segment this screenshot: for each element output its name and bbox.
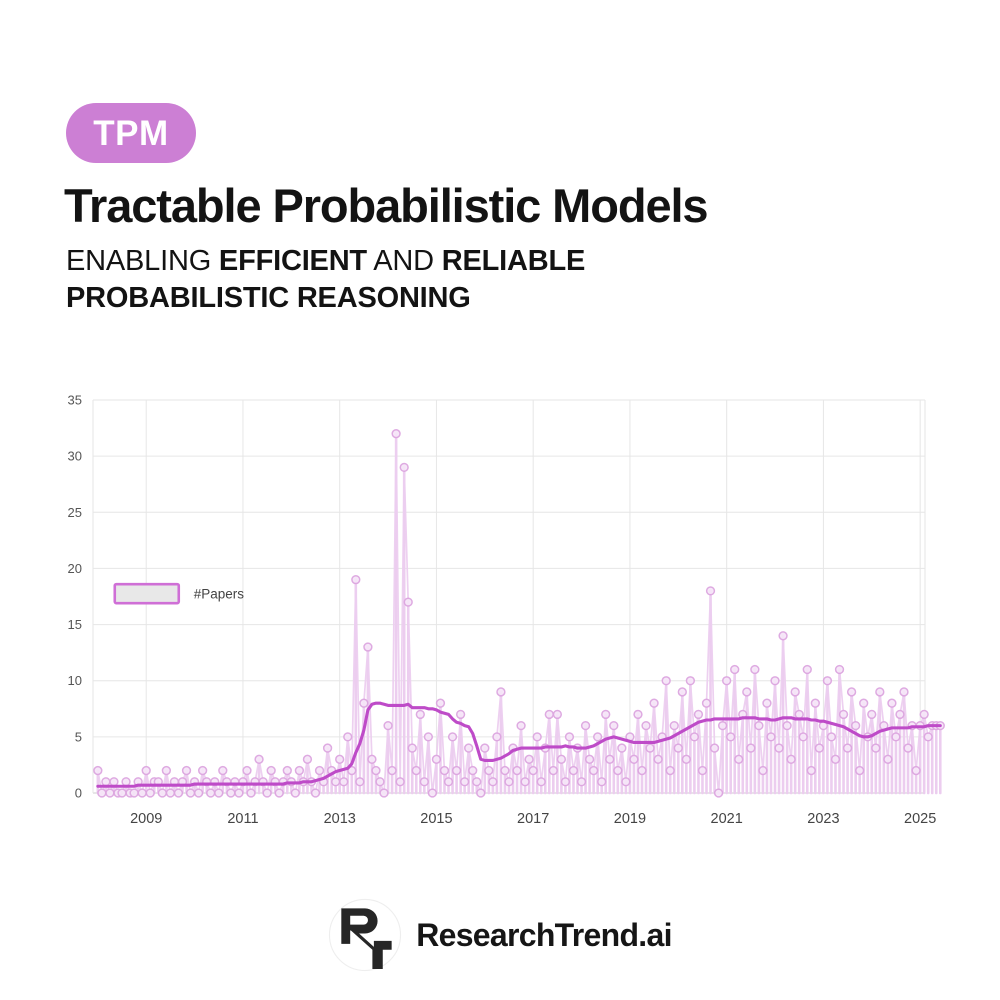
x-tick-label: 2015 xyxy=(420,811,452,827)
y-tick-label: 35 xyxy=(68,393,82,408)
papers-trend-chart: 05101520253035 2009201120132015201720192… xyxy=(0,370,1000,840)
subtitle-segment-1: ENABLING xyxy=(66,245,219,277)
x-tick-label: 2011 xyxy=(227,811,258,827)
subtitle-bold-reliable: RELIABLE xyxy=(442,245,585,277)
chart-stems xyxy=(98,434,940,793)
topic-badge: TPM xyxy=(66,103,196,163)
x-tick-label: 2017 xyxy=(517,811,549,827)
brand-name: ResearchTrend.ai xyxy=(416,917,672,954)
y-tick-label: 10 xyxy=(68,673,82,688)
x-tick-label: 2023 xyxy=(807,811,839,827)
footer-branding: ResearchTrend.ai xyxy=(0,885,1000,985)
topic-badge-label: TPM xyxy=(93,116,168,151)
rt-monogram-icon xyxy=(328,898,402,972)
y-tick-label: 0 xyxy=(75,786,82,801)
chart-legend[interactable]: #Papers xyxy=(115,584,245,603)
y-tick-label: 30 xyxy=(68,449,82,464)
page-subtitle: ENABLING EFFICIENT AND RELIABLEPROBABILI… xyxy=(66,243,806,317)
y-tick-label: 20 xyxy=(68,561,82,576)
subtitle-segment-2: AND xyxy=(367,245,442,277)
chart-x-axis-ticks: 200920112013201520172019202120232025 xyxy=(130,811,936,827)
legend-label: #Papers xyxy=(194,587,245,602)
x-tick-label: 2021 xyxy=(711,811,743,827)
page-title: Tractable Probabilistic Models xyxy=(64,178,707,233)
subtitle-bold-efficient: EFFICIENT xyxy=(219,245,367,277)
chart-y-axis-ticks: 05101520253035 xyxy=(68,393,82,801)
infographic-card: TPM Tractable Probabilistic Models ENABL… xyxy=(0,0,1000,1000)
subtitle-line-2: PROBABILISTIC REASONING xyxy=(66,282,471,314)
x-tick-label: 2025 xyxy=(904,811,936,827)
legend-swatch[interactable] xyxy=(115,584,179,603)
x-tick-label: 2009 xyxy=(130,811,162,827)
y-tick-label: 15 xyxy=(68,617,82,632)
x-tick-label: 2013 xyxy=(324,811,356,827)
chart-svg: 05101520253035 2009201120132015201720192… xyxy=(0,370,1000,840)
x-tick-label: 2019 xyxy=(614,811,646,827)
y-tick-label: 5 xyxy=(75,729,82,744)
y-tick-label: 25 xyxy=(68,505,82,520)
